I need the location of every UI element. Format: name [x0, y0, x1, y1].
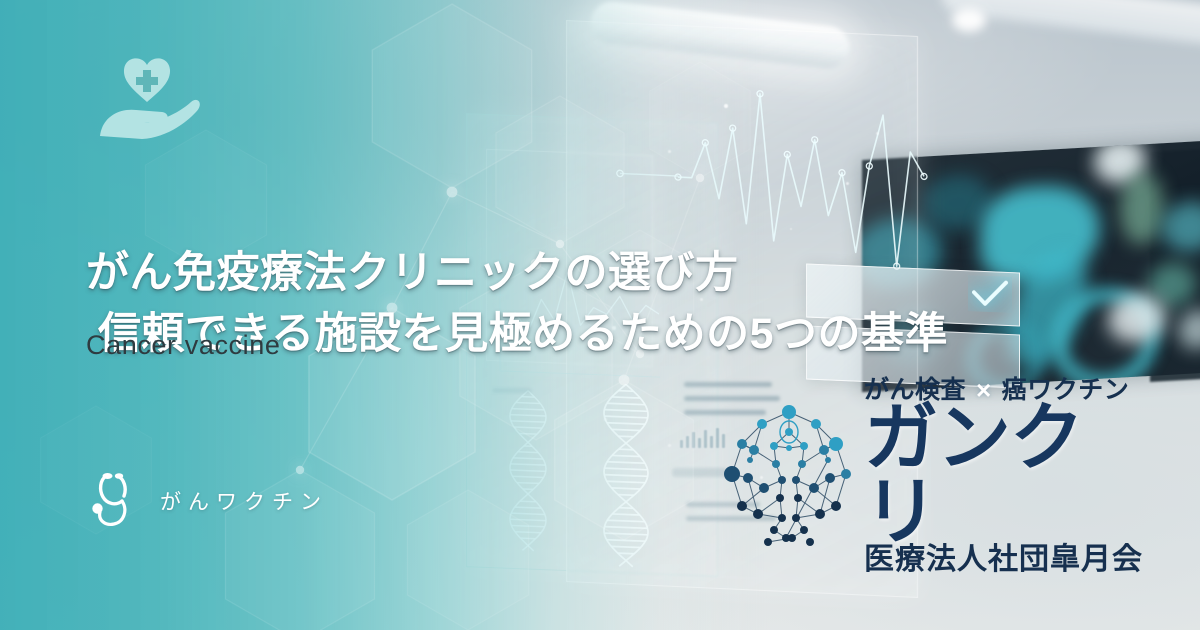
subtitle: Cancer vaccine: [86, 330, 281, 361]
logo-name: ガンクリ: [864, 401, 1154, 549]
stethoscope-icon: [88, 470, 144, 532]
logo-organization: 医療法人社団皐月会: [864, 545, 1154, 575]
page-title: がん免疫療法クリニックの選び方 信頼できる施設を見極めるための5つの基準: [86, 182, 966, 426]
brand-label: がんワクチン: [160, 486, 328, 516]
headline-line-1: がん免疫療法クリニックの選び方: [86, 249, 739, 297]
brand-bottom-left: がんワクチン: [88, 470, 328, 532]
clinic-logo: がん検査 × 癌ワクチン ガンクリ 医療法人社団皐月会: [724, 396, 1154, 556]
logo-text-block: がん検査 × 癌ワクチン ガンクリ 医療法人社団皐月会: [864, 377, 1154, 575]
banner-root: がん免疫療法クリニックの選び方 信頼できる施設を見極めるための5つの基準 Can…: [0, 0, 1200, 630]
hand-holding-heart-icon: [92, 52, 202, 144]
network-human-icon: [724, 402, 854, 550]
